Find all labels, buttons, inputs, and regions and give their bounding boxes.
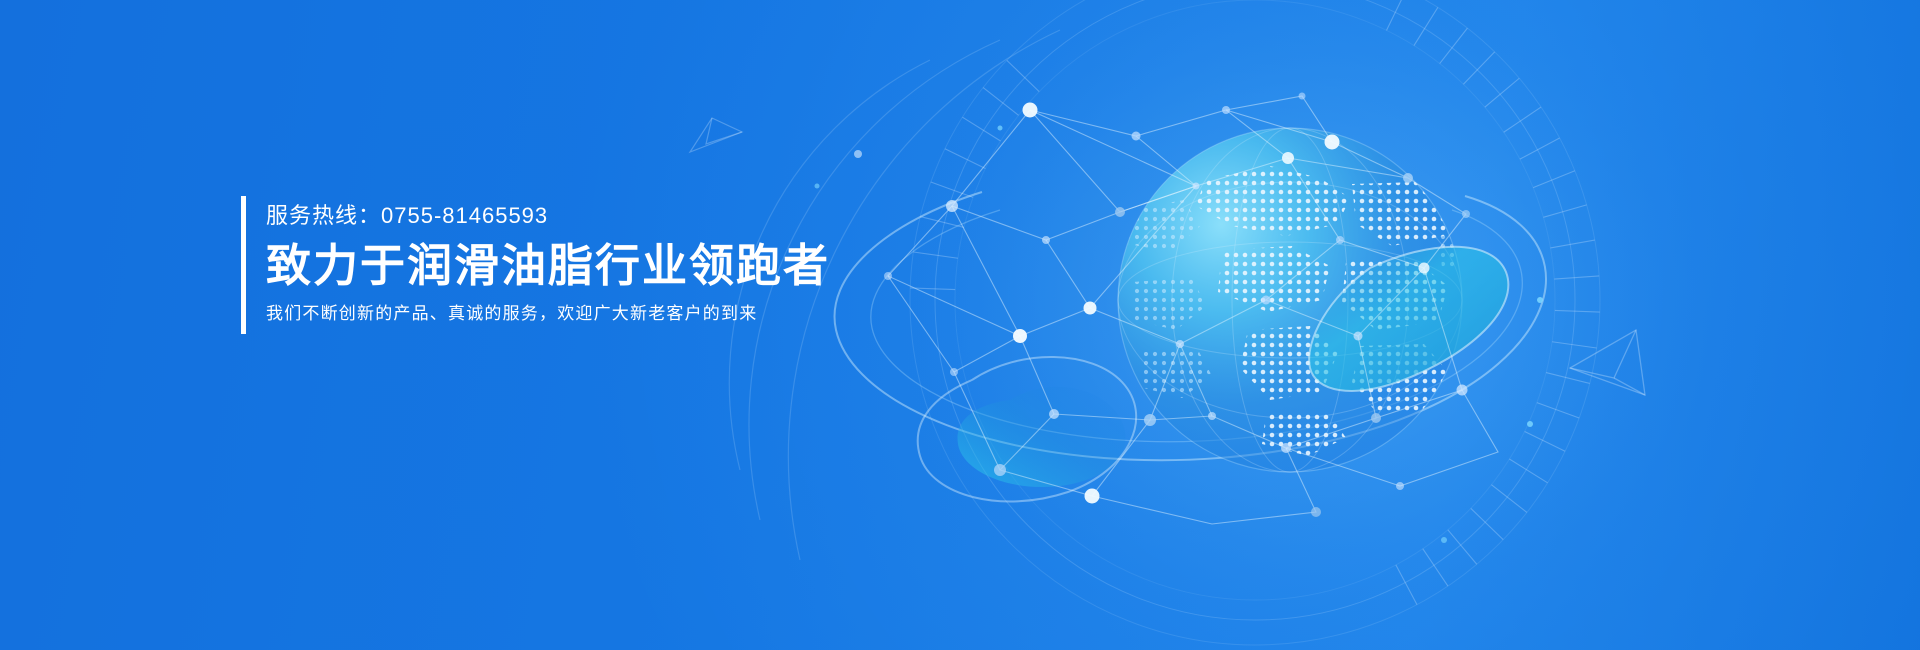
hero-subtitle: 我们不断创新的产品、真诚的服务，欢迎广大新老客户的到来: [266, 301, 757, 327]
service-hotline-text: 服务热线：0755-81465593: [266, 201, 548, 231]
hero-text-block: 服务热线：0755-81465593 致力于润滑油脂行业领跑者 我们不断创新的产…: [241, 196, 1001, 334]
vertical-accent-bar: [241, 196, 246, 334]
hero-banner: 服务热线：0755-81465593 致力于润滑油脂行业领跑者 我们不断创新的产…: [0, 0, 1920, 650]
page-title: 致力于润滑油脂行业领跑者: [266, 238, 830, 294]
